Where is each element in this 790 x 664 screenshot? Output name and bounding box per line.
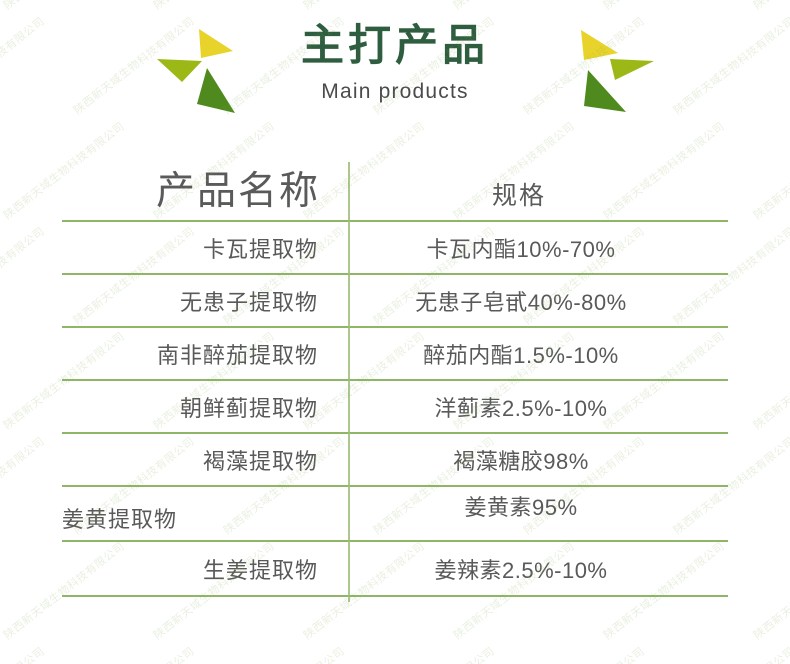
watermark-text: 陕西新天域生物科技有限公司 — [0, 433, 48, 538]
table-row[interactable]: 朝鲜蓟提取物 洋蓟素2.5%-10% — [62, 381, 728, 434]
column-divider — [348, 162, 350, 602]
column-header-specification: 规格 — [350, 176, 728, 220]
column-header-product-name: 产品名称 — [62, 160, 350, 220]
cell-product-name: 无患子提取物 — [62, 285, 350, 317]
title-block: 主打产品 Main products — [0, 22, 790, 104]
watermark-text: 陕西新天域生物科技有限公司 — [750, 328, 790, 433]
table-row[interactable]: 无患子提取物 无患子皂甙40%-80% — [62, 275, 728, 328]
watermark-text: 陕西新天域生物科技有限公司 — [0, 223, 48, 328]
watermark-text: 陕西新天域生物科技有限公司 — [520, 643, 648, 664]
page-subtitle: Main products — [0, 80, 790, 104]
page-title: 主打产品 — [0, 22, 790, 71]
cell-specification: 醉茄内酯1.5%-10% — [350, 338, 728, 370]
watermark-text: 陕西新天域生物科技有限公司 — [70, 643, 198, 664]
cell-specification: 褐藻糖胶98% — [350, 444, 728, 476]
watermark-text: 陕西新天域生物科技有限公司 — [370, 643, 498, 664]
table-row[interactable]: 南非醉茄提取物 醉茄内酯1.5%-10% — [62, 328, 728, 381]
table-row[interactable]: 褐藻提取物 褐藻糖胶98% — [62, 434, 728, 487]
watermark-text: 陕西新天域生物科技有限公司 — [0, 643, 48, 664]
watermark-text: 陕西新天域生物科技有限公司 — [220, 643, 348, 664]
cell-product-name: 朝鲜蓟提取物 — [62, 391, 350, 423]
table-row[interactable]: 生姜提取物 姜辣素2.5%-10% — [62, 542, 728, 597]
cell-product-name: 生姜提取物 — [62, 553, 350, 585]
decorative-triangles-right-icon — [540, 20, 660, 132]
watermark-text: 陕西新天域生物科技有限公司 — [670, 643, 790, 664]
cell-specification: 无患子皂甙40%-80% — [350, 285, 728, 317]
table-header-row: 产品名称 规格 — [62, 158, 728, 222]
cell-product-name: 卡瓦提取物 — [62, 232, 350, 264]
cell-specification: 卡瓦内酯10%-70% — [350, 232, 728, 264]
table-row[interactable]: 姜黄提取物 姜黄素95% — [62, 487, 728, 542]
page-header: 主打产品 Main products — [0, 0, 790, 150]
cell-specification: 姜黄素95% — [350, 487, 728, 540]
cell-product-name: 南非醉茄提取物 — [62, 338, 350, 370]
cell-product-name: 姜黄提取物 — [62, 487, 350, 540]
cell-specification: 洋蓟素2.5%-10% — [350, 391, 728, 423]
table-row[interactable]: 卡瓦提取物 卡瓦内酯10%-70% — [62, 222, 728, 275]
cell-product-name: 褐藻提取物 — [62, 444, 350, 476]
product-table: 产品名称 规格 卡瓦提取物 卡瓦内酯10%-70% 无患子提取物 无患子皂甙40… — [62, 158, 728, 597]
watermark-text: 陕西新天域生物科技有限公司 — [750, 538, 790, 643]
cell-specification: 姜辣素2.5%-10% — [350, 553, 728, 585]
